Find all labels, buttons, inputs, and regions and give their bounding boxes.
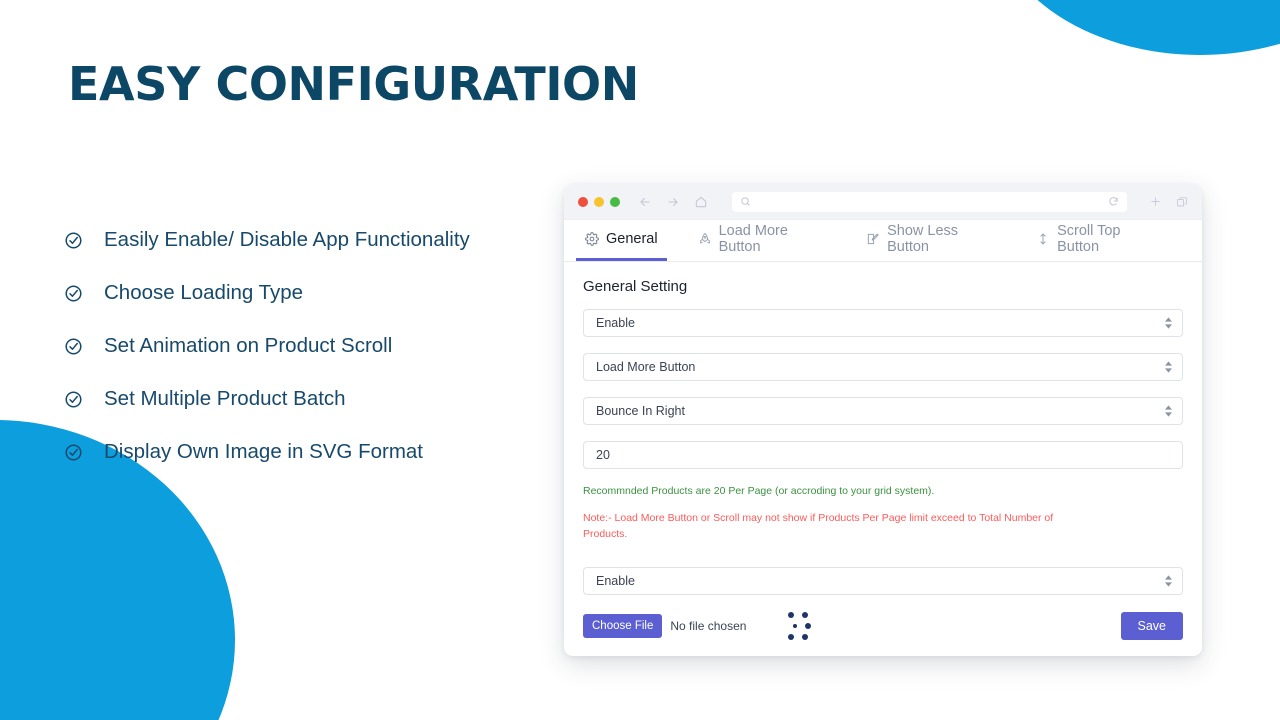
close-window-button[interactable] <box>578 197 588 207</box>
arrows-vertical-icon <box>1036 232 1050 246</box>
panel-title: General Setting <box>583 278 1183 295</box>
minimize-window-button[interactable] <box>594 197 604 207</box>
browser-window: General Load More Button Show Less Butto… <box>564 184 1202 656</box>
rocket-icon <box>698 232 712 246</box>
browser-chrome-bar <box>564 184 1202 220</box>
load-more-note: Note:- Load More Button or Scroll may no… <box>583 510 1075 543</box>
tab-general[interactable]: General <box>576 220 667 261</box>
tab-load-more-button[interactable]: Load More Button <box>689 220 835 261</box>
list-item: Set Multiple Product Batch <box>64 373 584 426</box>
loader-status-value: Enable <box>596 574 635 588</box>
chevron-updown-icon[interactable] <box>1165 575 1172 587</box>
loading-type-value: Load More Button <box>596 360 695 374</box>
panel-footer: Choose File No file chosen Save <box>583 611 1183 641</box>
feature-list: Easily Enable/ Disable App Functionality… <box>64 214 584 479</box>
animation-value: Bounce In Right <box>596 404 685 418</box>
selected-file-name: No file chosen <box>670 619 746 633</box>
choose-file-button[interactable]: Choose File <box>583 614 662 638</box>
list-item-label: Choose Loading Type <box>104 281 303 306</box>
back-arrow-icon[interactable] <box>638 195 652 209</box>
check-circle-icon <box>64 443 83 462</box>
maximize-window-button[interactable] <box>610 197 620 207</box>
home-icon[interactable] <box>694 195 708 209</box>
tab-label: Show Less Button <box>887 223 996 255</box>
search-icon <box>740 196 751 207</box>
forward-arrow-icon[interactable] <box>666 195 680 209</box>
tab-label: General <box>606 231 658 247</box>
window-controls <box>578 197 620 207</box>
reload-icon[interactable] <box>1108 196 1119 207</box>
browser-chrome-actions <box>1149 195 1188 208</box>
general-settings-panel: General Setting Enable Load More Button … <box>564 262 1202 641</box>
decorative-blob-top-right <box>990 0 1280 55</box>
recommended-products-hint: Recommnded Products are 20 Per Page (or … <box>583 485 1183 497</box>
products-per-page-value: 20 <box>596 448 610 462</box>
chevron-updown-icon[interactable] <box>1165 361 1172 373</box>
list-item-label: Easily Enable/ Disable App Functionality <box>104 228 470 253</box>
tab-show-less-button[interactable]: Show Less Button <box>857 220 1005 261</box>
check-circle-icon <box>64 337 83 356</box>
chevron-updown-icon[interactable] <box>1165 405 1172 417</box>
tab-label: Load More Button <box>719 223 826 255</box>
check-circle-icon <box>64 390 83 409</box>
dot-spinner-icon <box>784 611 814 641</box>
tab-scroll-top-button[interactable]: Scroll Top Button <box>1027 220 1168 261</box>
list-item: Easily Enable/ Disable App Functionality <box>64 214 584 267</box>
gear-icon <box>585 232 599 246</box>
loading-type-select[interactable]: Load More Button <box>583 353 1183 381</box>
browser-nav-controls <box>638 195 708 209</box>
settings-tabs: General Load More Button Show Less Butto… <box>564 220 1202 262</box>
app-status-select[interactable]: Enable <box>583 309 1183 337</box>
check-circle-icon <box>64 231 83 250</box>
copy-tabs-icon[interactable] <box>1176 196 1188 208</box>
new-tab-icon[interactable] <box>1149 195 1162 208</box>
list-item: Display Own Image in SVG Format <box>64 426 584 479</box>
products-per-page-input[interactable]: 20 <box>583 441 1183 469</box>
loader-status-select[interactable]: Enable <box>583 567 1183 595</box>
list-item-label: Set Animation on Product Scroll <box>104 334 392 359</box>
chevron-updown-icon[interactable] <box>1165 317 1172 329</box>
page-title: EASY CONFIGURATION <box>68 57 639 111</box>
list-item: Choose Loading Type <box>64 267 584 320</box>
tab-label: Scroll Top Button <box>1057 223 1159 255</box>
list-item: Set Animation on Product Scroll <box>64 320 584 373</box>
list-item-label: Set Multiple Product Batch <box>104 387 346 412</box>
app-status-value: Enable <box>596 316 635 330</box>
address-bar[interactable] <box>732 192 1127 212</box>
save-button[interactable]: Save <box>1121 612 1184 640</box>
edit-square-icon <box>866 232 880 246</box>
animation-select[interactable]: Bounce In Right <box>583 397 1183 425</box>
list-item-label: Display Own Image in SVG Format <box>104 440 423 465</box>
check-circle-icon <box>64 284 83 303</box>
